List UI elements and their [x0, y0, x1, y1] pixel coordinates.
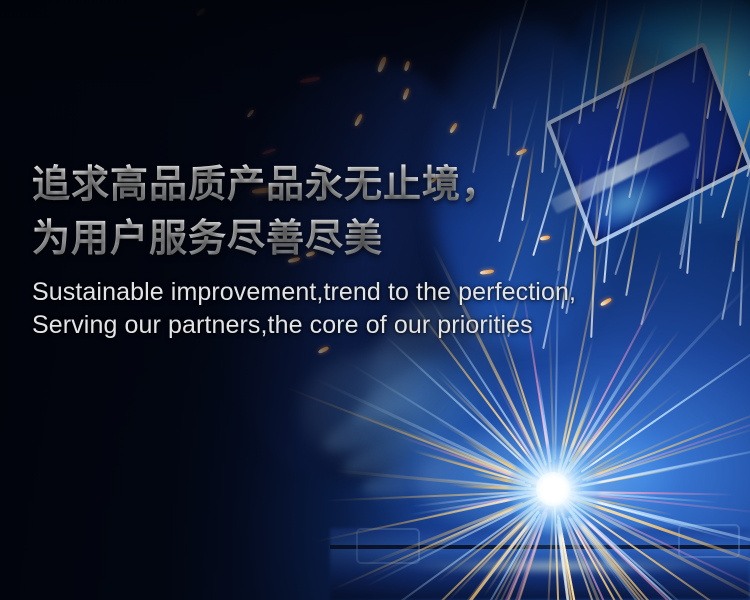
spark-ember	[377, 56, 388, 73]
steel-workpiece	[330, 528, 750, 600]
spark-streak	[578, 0, 598, 124]
spark-streak	[737, 159, 750, 241]
spark-glint	[300, 76, 320, 83]
spark-streak	[558, 517, 603, 600]
spark-ember	[354, 113, 364, 126]
spark-streak	[746, 24, 750, 176]
welder-neck-shadow	[590, 40, 680, 120]
headline-cn-line-1: 追求高品质产品永无止境，	[32, 158, 722, 212]
bolt-hole	[0, 10, 10, 20]
workpiece-bracket	[678, 524, 740, 558]
spark-streak	[592, 0, 610, 112]
headline-en-line-2: Serving our partners,the core of our pri…	[32, 309, 722, 342]
workpiece-sheen	[390, 556, 720, 576]
spark-streak	[557, 514, 584, 600]
spark-ember	[449, 122, 458, 133]
headline-block: 追求高品质产品永无止境， 为用户服务尽善尽美 Sustainable impro…	[32, 158, 722, 342]
spark-streak	[557, 513, 599, 600]
spark-streak	[557, 515, 585, 600]
spark-streak	[733, 207, 742, 272]
spark-streak	[558, 518, 597, 600]
spark-ember	[318, 346, 330, 354]
spark-streak	[568, 518, 654, 600]
spark-ember	[246, 109, 254, 118]
spark-streak	[561, 513, 645, 600]
spark-streak	[571, 515, 627, 592]
bolt-hole	[0, 20, 10, 30]
spark-streak	[575, 511, 732, 600]
spark-streak	[722, 250, 737, 321]
spark-streak	[576, 502, 750, 600]
spark-streak	[568, 515, 610, 585]
spark-streak	[572, 507, 731, 600]
spark-ember	[516, 148, 528, 156]
spark-streak	[616, 0, 647, 109]
spark-streak	[607, 4, 646, 161]
headline-en-line-1: Sustainable improvement,trend to the per…	[32, 276, 722, 309]
spark-streak	[570, 518, 674, 600]
spark-streak	[706, 72, 715, 119]
spark-glint	[262, 148, 276, 155]
spark-ember	[402, 88, 410, 101]
spark-streak	[693, 0, 710, 82]
workpiece-edge	[330, 545, 750, 549]
spark-ember	[196, 7, 206, 16]
smoke-wisp	[420, 430, 620, 530]
spark-ember	[404, 61, 411, 72]
bolt-hole	[0, 30, 10, 40]
welding-hero-banner: 追求高品质产品永无止境， 为用户服务尽善尽美 Sustainable impro…	[0, 0, 750, 600]
spark-streak	[581, 332, 750, 472]
spark-streak	[570, 509, 717, 600]
spark-streak	[541, 44, 554, 173]
spark-streak	[739, 234, 744, 326]
spark-streak	[507, 97, 512, 156]
welding-helmet-highlight	[640, 0, 750, 140]
spark-streak	[492, 0, 543, 109]
spark-streak	[720, 0, 734, 111]
headline-cn-line-2: 为用户服务尽善尽美	[32, 212, 722, 266]
spark-streak	[570, 510, 684, 600]
spark-streak	[554, 78, 565, 169]
spark-streak	[566, 499, 750, 600]
spark-streak	[721, 52, 750, 218]
workpiece-bracket	[356, 528, 420, 564]
spark-streak	[557, 523, 594, 600]
spark-streak	[634, 37, 661, 170]
spark-streak	[574, 517, 684, 600]
spark-streak	[566, 518, 664, 600]
bolt-hole	[0, 0, 10, 10]
spark-streak	[557, 520, 586, 600]
spark-streak	[494, 25, 501, 109]
